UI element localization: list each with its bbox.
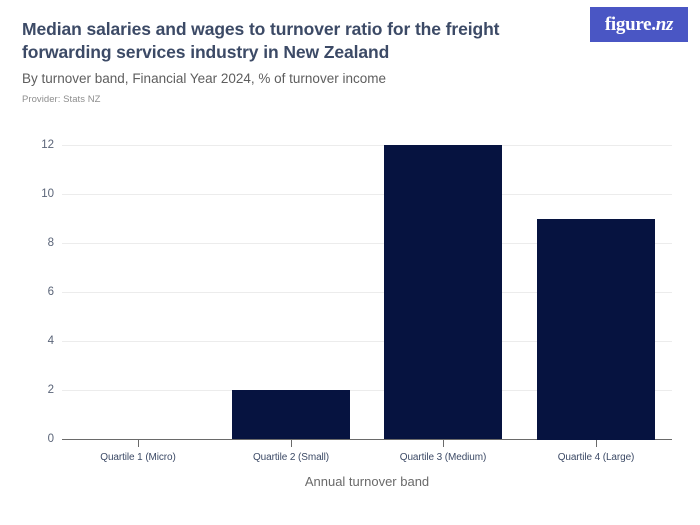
x-axis-tick-label: Quartile 2 (Small): [253, 452, 329, 463]
x-axis-tick: [596, 440, 597, 447]
x-axis-tick-label: Quartile 3 (Medium): [400, 452, 486, 463]
x-axis-tick: [291, 440, 292, 447]
x-axis-tick: [443, 440, 444, 447]
x-axis-title: Annual turnover band: [62, 474, 672, 489]
chart-page: Median salaries and wages to turnover ra…: [0, 0, 700, 525]
chart-plot-area: 024681012 Quartile 1 (Micro)Quartile 2 (…: [0, 0, 700, 525]
x-axis-tick-label: Quartile 4 (Large): [558, 452, 635, 463]
x-axis-ticks: Quartile 1 (Micro)Quartile 2 (Small)Quar…: [0, 0, 700, 525]
x-axis-tick-label: Quartile 1 (Micro): [100, 452, 175, 463]
x-axis-tick: [138, 440, 139, 447]
